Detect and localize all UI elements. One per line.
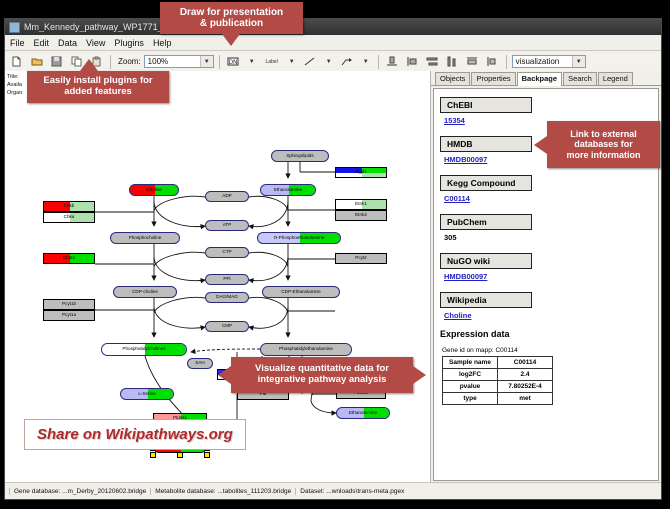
- links-callout: Link to external databases for more info…: [547, 121, 660, 168]
- toolbar-separator-4: [506, 55, 507, 69]
- status-gene-database: Gene database: ...m_Derby_20120602.bridg…: [9, 488, 150, 495]
- node-chkb[interactable]: Chkb: [43, 201, 95, 212]
- screenshot-root: Mm_Kennedy_pathway_WP1771_45176.gpml Fil…: [0, 0, 670, 509]
- node-chka[interactable]: Chka: [43, 212, 95, 223]
- node-label: Chka: [64, 215, 75, 220]
- menu-item-help[interactable]: Help: [153, 38, 172, 48]
- section-header-wikipedia: Wikipedia: [440, 292, 532, 308]
- plugins-callout-arrow-icon: [80, 59, 98, 71]
- link-kegg[interactable]: C00114: [444, 194, 658, 203]
- node-label: PPi: [223, 277, 230, 282]
- toolbar-separator-3: [378, 55, 379, 69]
- plugins-callout: Easily install plugins for added feature…: [27, 71, 169, 103]
- links-callout-line1: Link to external: [566, 129, 640, 139]
- expression-data-heading: Expression data: [440, 329, 658, 339]
- toolbar: Zoom: 100% ▼ DN ▼ Label ▼ ▼ ▼: [5, 51, 661, 73]
- node-adp[interactable]: ADP: [205, 191, 249, 202]
- node-label: Chkb: [64, 204, 75, 209]
- visualize-callout-arrow-right-icon: [413, 366, 426, 384]
- node-pcyt1b[interactable]: Pcyt1b: [43, 299, 95, 310]
- line-icon[interactable]: [302, 53, 319, 70]
- zoom-combobox[interactable]: 100% ▼: [144, 55, 214, 68]
- order-icon[interactable]: [484, 53, 501, 70]
- visualize-callout-line2: integrative pathway analysis: [255, 375, 389, 386]
- pathvisio-icon: [9, 22, 20, 33]
- node-label: SAH: [195, 361, 204, 366]
- node-chpt1[interactable]: Chpt1: [43, 253, 95, 264]
- share-banner-text: Share on Wikipathways.org: [37, 426, 233, 443]
- cell-log2fc-key: log2FC: [443, 369, 498, 381]
- node-label: Etnk2: [355, 213, 367, 218]
- align-left-icon[interactable]: [404, 53, 421, 70]
- status-dataset: Dataset: ...wnloads\trans-meta.pgex: [295, 488, 408, 495]
- table-row: log2FC 2.4: [443, 369, 553, 381]
- node-label: ATP: [223, 223, 232, 228]
- node-label: Sgpl1: [355, 170, 367, 175]
- status-bar: Gene database: ...m_Derby_20120602.bridg…: [5, 482, 661, 499]
- node-label: CMP: [222, 324, 232, 329]
- status-metabolite-database: Metabolite database: ...tabolites_111203…: [150, 488, 295, 495]
- draw-callout-line2: & publication: [180, 18, 283, 30]
- tab-backpage[interactable]: Backpage: [517, 72, 562, 86]
- node-label: Phosphocholine: [129, 236, 162, 241]
- visualization-value: visualization: [516, 57, 560, 66]
- node-label: Pcyt2: [355, 256, 367, 261]
- node-ethanolamine-right[interactable]: Ethanolamine: [336, 407, 390, 419]
- cell-log2fc-val: 2.4: [498, 369, 553, 381]
- node-label: Ethanolamine: [349, 411, 377, 416]
- node-label: Phosphatidylcholines: [122, 347, 165, 352]
- node-etnk1[interactable]: Etnk1: [335, 199, 387, 210]
- section-header-chebi: ChEBI: [440, 97, 532, 113]
- links-callout-line3: more information: [566, 150, 640, 160]
- node-sgpl1[interactable]: Sgpl1: [335, 167, 387, 178]
- draw-callout-arrow-icon: [222, 34, 240, 46]
- node-sah[interactable]: SAH: [187, 358, 213, 369]
- menu-item-edit[interactable]: Edit: [34, 38, 50, 48]
- node-label: CDP-choline: [132, 290, 158, 295]
- menu-bar: File Edit Data View Plugins Help: [5, 35, 661, 51]
- node-sphingolipids[interactable]: Sphingolipids: [271, 150, 329, 162]
- tab-search[interactable]: Search: [563, 72, 597, 85]
- cell-sample-name-key: Sample name: [443, 357, 498, 369]
- share-banner: Share on Wikipathways.org: [24, 419, 246, 450]
- links-callout-arrow-icon: [534, 136, 547, 154]
- group-icon[interactable]: [464, 53, 481, 70]
- node-l-serine-left[interactable]: L-Serine: [120, 388, 174, 400]
- node-atp[interactable]: ATP: [205, 220, 249, 231]
- cell-pvalue-val: 7.80252E-4: [498, 381, 553, 393]
- meta-organism-label: Organ: [7, 89, 22, 97]
- open-folder-icon[interactable]: [28, 53, 45, 70]
- visualize-callout-arrow-icon: [218, 366, 231, 384]
- cell-pvalue-key: pvalue: [443, 381, 498, 393]
- expression-table: Sample name C00114 log2FC 2.4 pvalue 7.8…: [442, 356, 553, 405]
- node-ethanolamine-top[interactable]: Ethanolamine: [260, 184, 316, 196]
- node-label: Pcyt1b: [62, 302, 76, 307]
- section-header-kegg: Kegg Compound: [440, 175, 532, 191]
- node-etnk2[interactable]: Etnk2: [335, 210, 387, 221]
- line-dropdown-icon[interactable]: ▼: [322, 54, 336, 69]
- visualization-combobox[interactable]: visualization ▼: [512, 55, 586, 68]
- toolbar-separator-2: [219, 55, 220, 69]
- draw-callout: Draw for presentation & publication: [160, 2, 303, 34]
- table-row: type met: [443, 393, 553, 405]
- tab-objects[interactable]: Objects: [435, 72, 470, 85]
- zoom-label: Zoom:: [118, 57, 141, 66]
- visualization-chevron-icon[interactable]: ▼: [572, 56, 585, 67]
- section-header-pubchem: PubChem: [440, 214, 532, 230]
- datanode-dropdown-icon[interactable]: ▼: [245, 54, 259, 69]
- node-label: Choline: [146, 188, 162, 193]
- table-row: pvalue 7.80252E-4: [443, 381, 553, 393]
- distribute-horizontal-icon[interactable]: [444, 53, 461, 70]
- menu-item-plugins[interactable]: Plugins: [114, 38, 144, 48]
- node-label: CDP-Ethanolamine: [281, 290, 320, 295]
- node-label: Sphingolipids: [286, 154, 313, 159]
- cell-type-val: met: [498, 393, 553, 405]
- node-label: O-Phosphoethanolamine: [274, 236, 325, 241]
- selection-handle-se[interactable]: [204, 452, 210, 458]
- tab-legend[interactable]: Legend: [598, 72, 633, 85]
- node-cdp-choline[interactable]: CDP-choline: [113, 286, 177, 298]
- node-label: CTP: [222, 250, 231, 255]
- node-cdp-ethanolamine[interactable]: CDP-Ethanolamine: [262, 286, 340, 298]
- table-row: Sample name C00114: [443, 357, 553, 369]
- node-label: Chpt1: [63, 256, 75, 261]
- node-label: Etnk1: [355, 202, 367, 207]
- gene-id-label: Gene id on mapp: C00114: [442, 347, 658, 354]
- pathway-meta: Title: Availa Organ: [7, 73, 22, 97]
- menu-item-view[interactable]: View: [86, 38, 105, 48]
- distribute-vertical-icon[interactable]: [424, 53, 441, 70]
- toolbar-separator: [110, 55, 111, 69]
- draw-callout-line1: Draw for presentation: [180, 7, 283, 19]
- node-pcyt1a[interactable]: Pcyt1a: [43, 310, 95, 321]
- node-label: Pcyt1a: [62, 313, 76, 318]
- selection-handle-s[interactable]: [177, 452, 183, 458]
- datanode-icon[interactable]: DN: [225, 53, 242, 70]
- meta-available-label: Availa: [7, 81, 22, 89]
- links-callout-line2: databases for: [566, 139, 640, 149]
- save-icon[interactable]: [48, 53, 65, 70]
- connector-dropdown-icon[interactable]: ▼: [359, 54, 373, 69]
- node-label: DAG/MAG: [216, 295, 238, 300]
- node-phosphatidylethanolamine[interactable]: Phosphatidylethanolamine: [260, 343, 352, 356]
- menu-item-data[interactable]: Data: [58, 38, 77, 48]
- node-o-phosphoethanolamine[interactable]: O-Phosphoethanolamine: [257, 232, 341, 244]
- node-label: ADP: [222, 194, 231, 199]
- menu-item-file[interactable]: File: [10, 38, 25, 48]
- node-ctp[interactable]: CTP: [205, 247, 249, 258]
- selection-handle-sw[interactable]: [150, 452, 156, 458]
- node-phosphatidylcholines[interactable]: Phosphatidylcholines: [101, 343, 187, 356]
- link-nugo[interactable]: HMDB00097: [444, 272, 658, 281]
- node-cmp[interactable]: CMP: [205, 321, 249, 332]
- meta-title-label: Title:: [7, 73, 22, 81]
- node-ppi[interactable]: PPi: [205, 274, 249, 285]
- zoom-value: 100%: [148, 57, 168, 66]
- cell-type-key: type: [443, 393, 498, 405]
- node-label: Phosphatidylethanolamine: [279, 347, 333, 352]
- arrow-connector-icon[interactable]: [339, 53, 356, 70]
- node-label: L-Serine: [138, 392, 155, 397]
- value-pubchem: 305: [444, 233, 658, 242]
- title-bar: Mm_Kennedy_pathway_WP1771_45176.gpml: [5, 19, 661, 35]
- plugins-callout-line2: added features: [43, 87, 152, 98]
- label-dropdown-icon[interactable]: ▼: [285, 54, 299, 69]
- chevron-down-icon[interactable]: ▼: [200, 56, 213, 67]
- svg-text:DN: DN: [229, 59, 238, 66]
- node-dagmag[interactable]: DAG/MAG: [205, 292, 249, 303]
- sidebar-tabstrip: Objects Properties Backpage Search Legen…: [431, 71, 661, 86]
- node-label: Ethanolamine: [274, 188, 302, 193]
- align-bottom-icon[interactable]: [384, 53, 401, 70]
- label-icon[interactable]: Label: [262, 53, 282, 70]
- node-pcyt2[interactable]: Pcyt2: [335, 253, 387, 264]
- tab-properties[interactable]: Properties: [471, 72, 515, 85]
- new-file-icon[interactable]: [8, 53, 25, 70]
- node-phosphocholine[interactable]: Phosphocholine: [110, 232, 180, 244]
- section-header-hmdb: HMDB: [440, 136, 532, 152]
- visualize-callout: Visualize quantitative data for integrat…: [231, 357, 413, 393]
- label-icon-text: Label: [266, 59, 278, 65]
- cell-sample-name-val: C00114: [498, 357, 553, 369]
- section-header-nugo: NuGO wiki: [440, 253, 532, 269]
- node-choline-top[interactable]: Choline: [129, 184, 179, 196]
- link-wikipedia[interactable]: Choline: [444, 311, 658, 320]
